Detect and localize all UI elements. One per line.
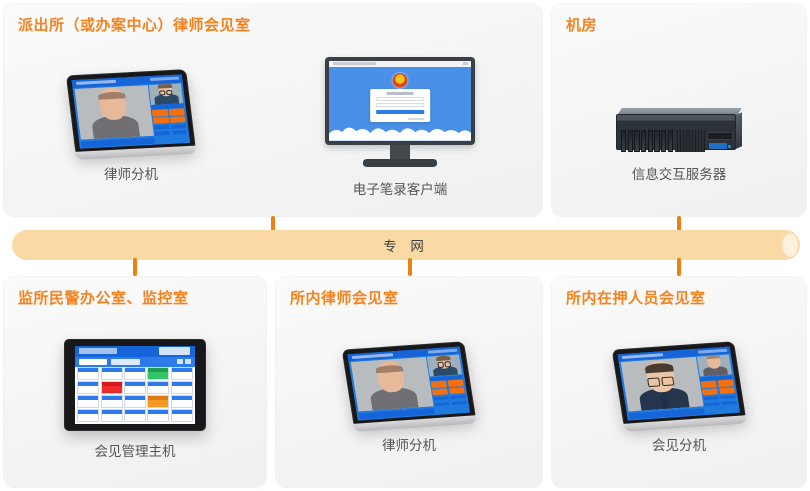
tablet-video-call-icon [71, 72, 191, 154]
connector-line-bottom-right [677, 258, 681, 276]
device-lawyer-terminal-bottom[interactable]: 律师分机 [348, 345, 470, 454]
panel-detainee-room: 所内在押人员会见室 [552, 277, 806, 487]
device-label: 会见管理主机 [95, 440, 176, 460]
panel-title: 所内在押人员会见室 [566, 287, 706, 308]
device-slots: 律师分机 [4, 38, 542, 216]
network-bar-label: 专 网 [383, 235, 429, 255]
device-slots: 会见分机 [552, 311, 806, 487]
device-meeting-terminal[interactable]: 会见分机 [618, 345, 740, 454]
device-e-record-client[interactable]: 电子笔录客户端 [325, 57, 475, 198]
private-network-bar: 专 网 [12, 230, 800, 260]
cylinder-cap [782, 233, 798, 257]
device-meeting-management-host[interactable]: 会见管理主机 [64, 339, 206, 460]
device-slots: 会见管理主机 [4, 311, 266, 487]
device-lawyer-terminal-top[interactable]: 律师分机 [71, 72, 191, 183]
panel-police-office: 监所民警办公室、监控室 [4, 277, 266, 487]
tablet-video-call-alt-icon [618, 345, 740, 425]
panel-title: 派出所（或办案中心）律师会见室 [18, 14, 251, 35]
device-label: 信息交互服务器 [632, 163, 727, 183]
panel-title: 机房 [566, 14, 597, 35]
device-slots: 信息交互服务器 [552, 38, 806, 216]
panel-inside-lawyer-room: 所内律师会见室 [276, 277, 542, 487]
device-label: 会见分机 [652, 434, 706, 454]
panel-server-room: 机房 信息交互服务器 [552, 4, 806, 216]
panel-police-station: 派出所（或办案中心）律师会见室 [4, 4, 542, 216]
connector-line-bottom-left [133, 258, 137, 276]
panel-title: 所内律师会见室 [290, 287, 399, 308]
device-label: 律师分机 [382, 434, 436, 454]
tablet-video-call-icon [348, 345, 470, 425]
connector-line-bottom-middle [408, 258, 412, 276]
desktop-monitor-icon [325, 57, 475, 169]
tablet-dashboard-icon [64, 339, 206, 431]
device-info-exchange-server[interactable]: 信息交互服务器 [616, 72, 742, 183]
rack-server-icon [616, 72, 742, 154]
device-label: 律师分机 [104, 163, 158, 183]
network-topology-diagram: 派出所（或办案中心）律师会见室 [0, 0, 810, 491]
panel-title: 监所民警办公室、监控室 [18, 287, 189, 308]
device-slots: 律师分机 [276, 311, 542, 487]
device-label: 电子笔录客户端 [353, 178, 448, 198]
